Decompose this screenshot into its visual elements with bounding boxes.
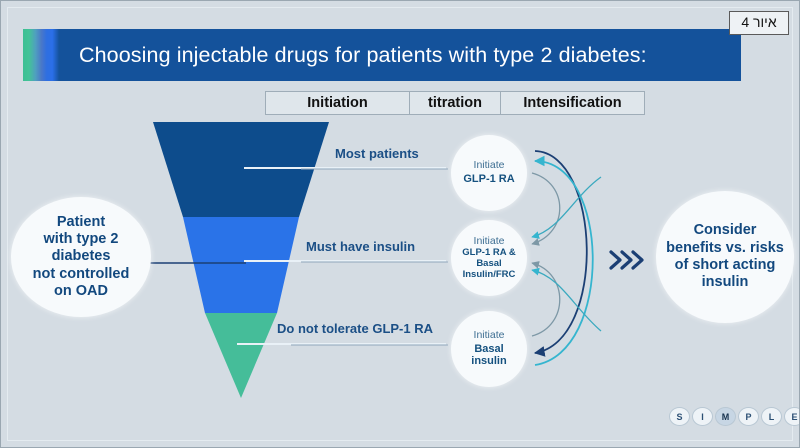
treatment-line-2-3: Insulin/FRC: [463, 270, 516, 281]
entry-line-3: diabetes: [52, 248, 111, 265]
funnel-label-most-patients: Most patients: [335, 146, 419, 161]
arc-basal-to-combo-gray: [532, 263, 560, 336]
gradient-accent-strip: [23, 29, 65, 81]
treatment-line-3-2: insulin: [471, 355, 506, 367]
arc-glp-to-basal-navy: [535, 151, 587, 353]
logo-letter-l: L: [761, 407, 782, 426]
funnel-band-must-have-insulin: [183, 217, 299, 313]
treatment-node-combo: Initiate GLP-1 RA & Basal Insulin/FRC: [451, 220, 527, 296]
treatment-node-glp1ra: Initiate GLP-1 RA: [451, 135, 527, 211]
phase-tab-group: Initiation titration Intensification: [266, 91, 645, 115]
entry-line-5: on OAD: [54, 283, 108, 300]
treatment-lead-3: Initiate: [474, 330, 505, 342]
outcome-line-2: benefits vs. risks: [666, 240, 784, 257]
simple-logo: S I M P L E: [669, 407, 800, 426]
slide-canvas: איור 4 Choosing injectable drugs for pat…: [0, 0, 800, 448]
arc-feeder-combo-upper-cyan: [532, 177, 601, 237]
logo-letter-s: S: [669, 407, 690, 426]
funnel-label-must-have-insulin: Must have insulin: [306, 239, 415, 254]
logo-letter-p: P: [738, 407, 759, 426]
tab-titration[interactable]: titration: [409, 91, 501, 115]
entry-line-2: with type 2: [44, 231, 119, 248]
entry-line-4: not controlled: [33, 266, 130, 283]
figure-number-badge: איור 4: [729, 11, 789, 35]
entry-line-1: Patient: [57, 214, 105, 231]
logo-letter-m: M: [715, 407, 736, 426]
funnel-band-most-patients: [153, 122, 329, 217]
entry-node-patient: Patient with type 2 diabetes not control…: [11, 197, 151, 317]
funnel-band-do-not-tolerate: [205, 313, 277, 398]
outcome-line-4: insulin: [702, 274, 749, 291]
funnel-label-do-not-tolerate: Do not tolerate GLP-1 RA: [277, 321, 433, 336]
page-title: Choosing injectable drugs for patients w…: [79, 43, 647, 68]
logo-letter-e: E: [784, 407, 800, 426]
treatment-lead-1: Initiate: [474, 160, 505, 172]
treatment-line-3-1: Basal: [474, 343, 503, 355]
tab-intensification[interactable]: Intensification: [500, 91, 645, 115]
arc-feeder-combo-lower-cyan: [532, 270, 601, 331]
outcome-line-1: Consider: [694, 222, 757, 239]
tab-initiation[interactable]: Initiation: [265, 91, 410, 115]
treatment-line-1-1: GLP-1 RA: [463, 173, 514, 185]
patient-funnel-graphic: [153, 122, 329, 398]
logo-letter-i: I: [692, 407, 713, 426]
treatment-node-basal-insulin: Initiate Basal insulin: [451, 311, 527, 387]
slide-title-bar: Choosing injectable drugs for patients w…: [23, 29, 741, 81]
treatment-lead-2: Initiate: [474, 236, 505, 248]
outcome-node-consider: Consider benefits vs. risks of short act…: [656, 191, 794, 323]
arc-basal-to-glp-cyan: [535, 161, 593, 365]
outcome-line-3: of short acting: [675, 257, 776, 274]
arc-glp-to-combo-gray: [532, 173, 560, 244]
triple-chevron-right-icon: [609, 249, 649, 271]
